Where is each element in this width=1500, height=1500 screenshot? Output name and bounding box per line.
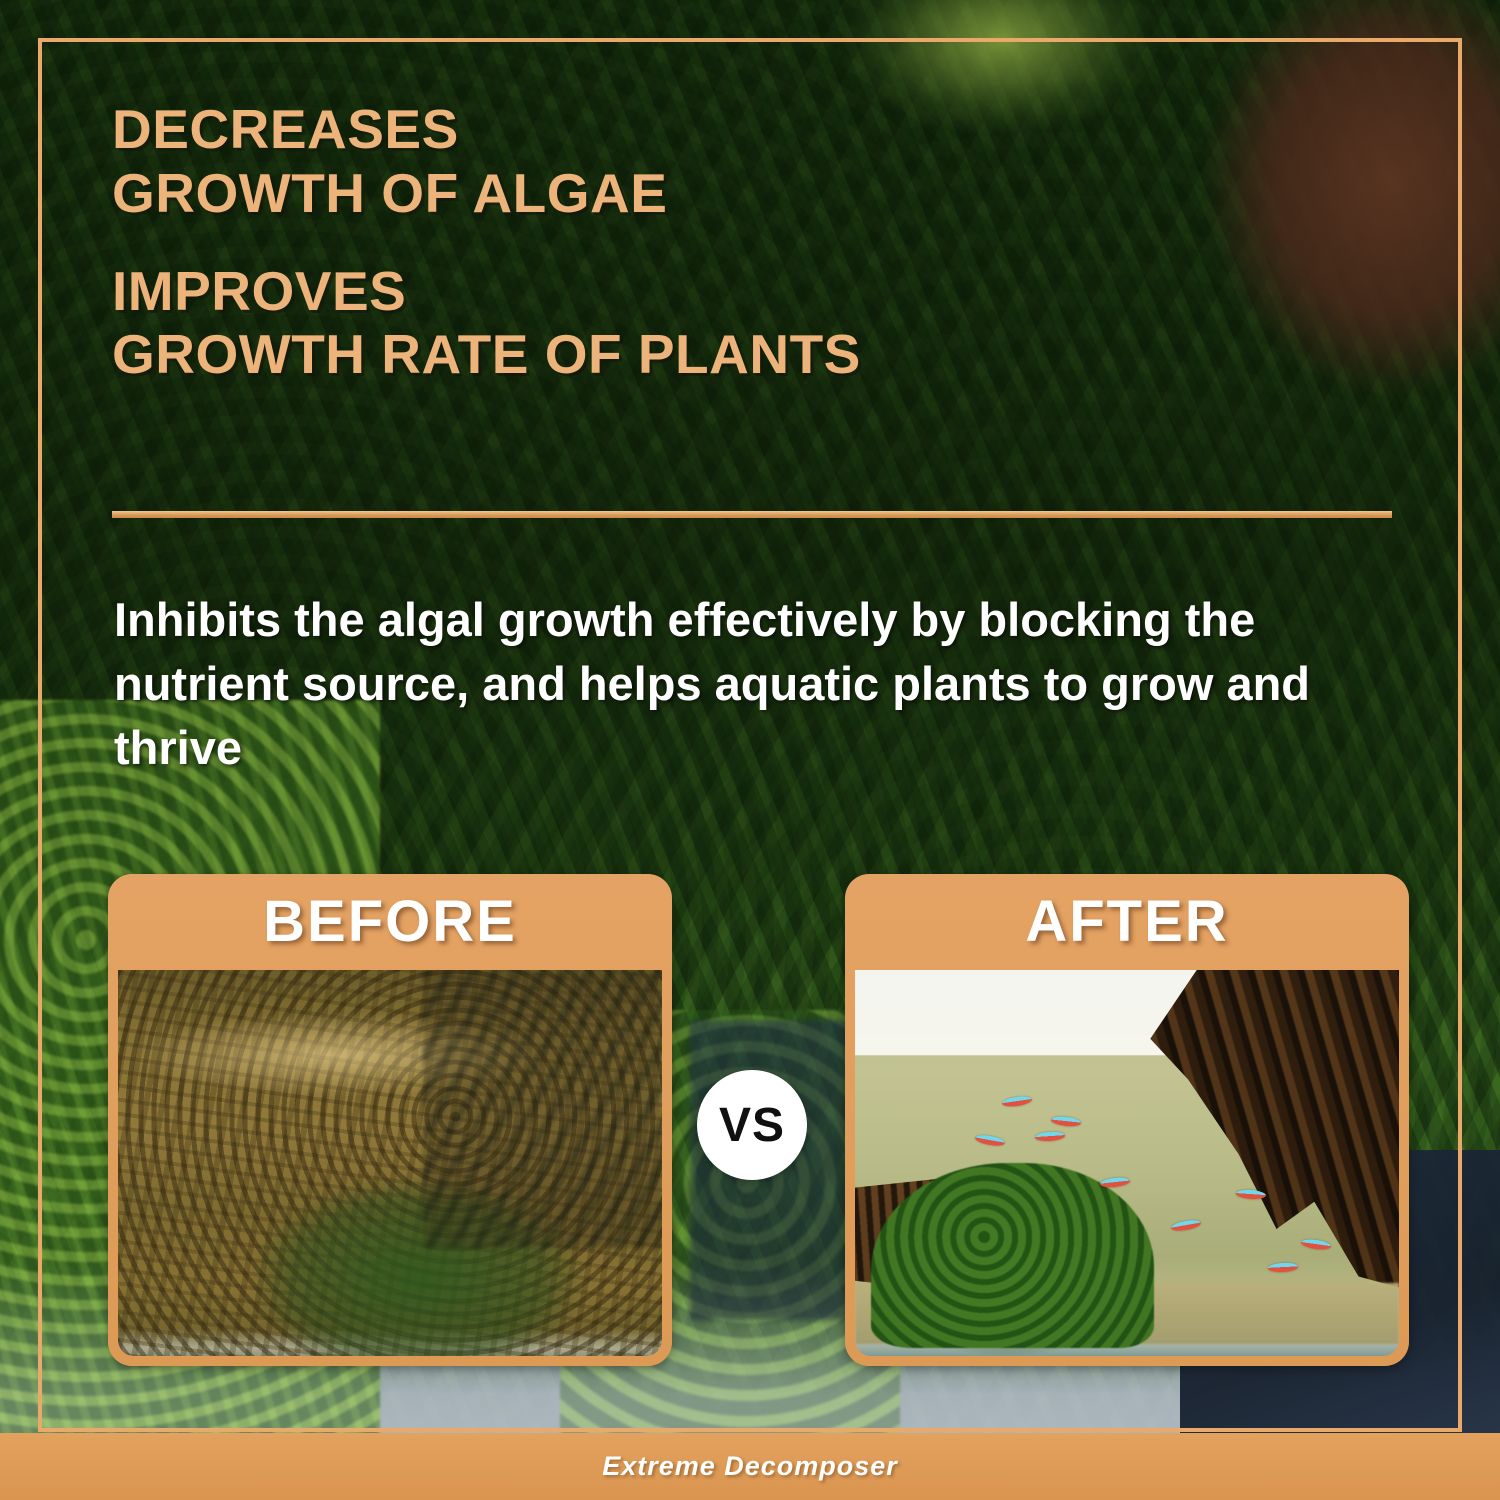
neon-tetra-fish bbox=[1034, 1131, 1065, 1142]
headline-line-3: IMPROVES bbox=[112, 260, 1292, 324]
headline-line-1: DECREASES bbox=[112, 98, 1292, 162]
product-feature-poster: DECREASES GROWTH OF ALGAE IMPROVES GROWT… bbox=[0, 0, 1500, 1500]
neon-tetra-fish bbox=[1170, 1218, 1201, 1232]
section-divider bbox=[112, 511, 1392, 518]
neon-tetra-fish bbox=[974, 1133, 1005, 1147]
body-copy-text: Inhibits the algal growth effectively by… bbox=[114, 588, 1344, 780]
footer-bar: Extreme Decomposer bbox=[0, 1433, 1500, 1500]
headline-line-4: GROWTH RATE OF PLANTS bbox=[112, 323, 1292, 387]
moss-plant-cluster bbox=[871, 1163, 1154, 1348]
before-aquarium-photo bbox=[118, 970, 662, 1356]
headline-group-improves: IMPROVES GROWTH RATE OF PLANTS bbox=[112, 260, 1292, 388]
neon-tetra-fish bbox=[1001, 1095, 1032, 1108]
headline-line-2: GROWTH OF ALGAE bbox=[112, 162, 1292, 226]
before-panel: BEFORE bbox=[108, 874, 672, 1366]
after-aquarium-photo bbox=[855, 970, 1399, 1356]
after-panel: AFTER bbox=[845, 874, 1409, 1366]
product-name-label: Extreme Decomposer bbox=[602, 1451, 898, 1482]
headline-group-decreases: DECREASES GROWTH OF ALGAE bbox=[112, 98, 1292, 226]
neon-tetra-fish bbox=[1268, 1263, 1298, 1274]
vs-label: VS bbox=[719, 1098, 785, 1153]
after-label: AFTER bbox=[855, 874, 1399, 970]
before-label: BEFORE bbox=[118, 874, 662, 970]
neon-tetra-fish bbox=[1301, 1238, 1332, 1251]
neon-tetra-fish bbox=[1050, 1115, 1081, 1127]
vs-badge: VS bbox=[697, 1070, 807, 1180]
headline-block: DECREASES GROWTH OF ALGAE IMPROVES GROWT… bbox=[112, 98, 1292, 387]
